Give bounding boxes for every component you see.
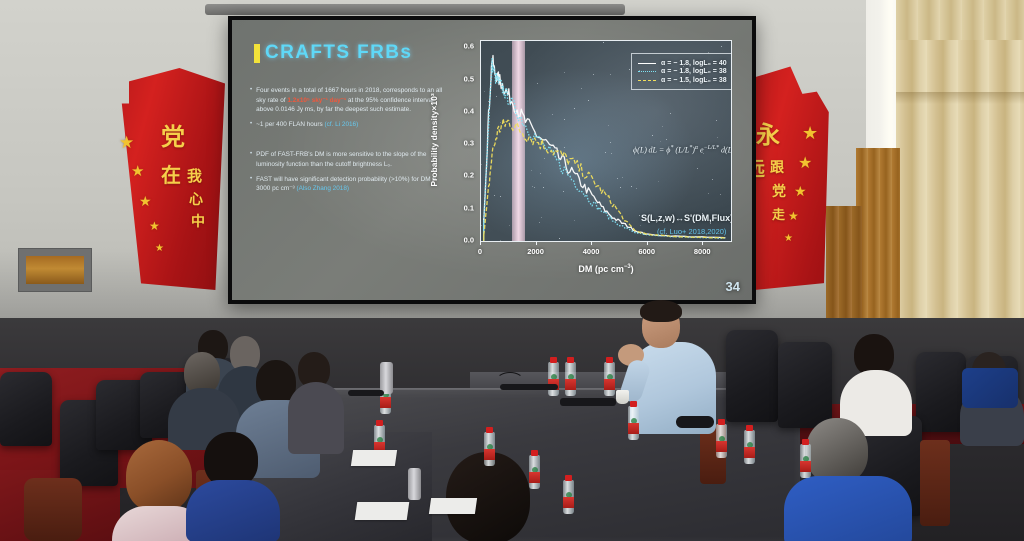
x-tick-label: 6000: [638, 247, 655, 256]
banner-star: ★: [119, 134, 134, 151]
banner-character: 跟: [770, 162, 784, 176]
paper-cup: [616, 390, 629, 404]
legend-item-2: α = − 1.5, logL₀ = 38: [638, 77, 727, 84]
legend-item-0: α = − 1.8, logL₀ = 40: [638, 60, 727, 67]
document-paper: [355, 502, 410, 520]
bullet-text: PDF of FAST-FRB's DM is more sensitive t…: [256, 150, 450, 169]
bullet-segment: (Also Zhang 2018): [296, 185, 349, 192]
slide-number: 34: [726, 279, 740, 294]
bullet-text: Four events in a total of 1667 hours in …: [256, 86, 450, 115]
banner-star: ★: [155, 244, 164, 254]
banner-character: 心: [189, 194, 203, 208]
wall-plaque: [18, 248, 92, 292]
banner-star: ★: [131, 164, 144, 179]
banner-character: 我: [187, 170, 202, 185]
water-bottle: [548, 362, 559, 396]
bullet-spacer: [250, 134, 450, 150]
x-tick-mark: [536, 241, 537, 245]
legend-swatch: [638, 71, 656, 72]
y-tick-label: 0.2: [464, 171, 474, 180]
x-tick-mark: [591, 241, 592, 245]
mapping-text: S(L,z,w)↔S'(DM,Flux): [641, 213, 732, 223]
torso-blue: [186, 480, 280, 541]
bullet-segment: 1.2x10⁵ sky⁻¹ day⁻¹: [287, 97, 346, 104]
legend-swatch: [638, 63, 656, 64]
water-bottle: [484, 432, 495, 466]
dm-probability-chart: Probability density×10³ 0.00.10.20.30.40…: [438, 36, 738, 286]
banner-character: 在: [161, 166, 181, 186]
chair-armrest: [920, 440, 950, 526]
x-tick-label: 4000: [583, 247, 600, 256]
y-tick-label: 0.3: [464, 139, 474, 148]
document-paper: [351, 450, 397, 466]
banner-character: 永: [756, 124, 780, 148]
document-paper: [429, 498, 477, 514]
legend-label: α = − 1.8, logL₀ = 38: [661, 68, 727, 75]
x-tick-label: 8000: [694, 247, 711, 256]
water-bottle: [800, 444, 811, 478]
head-red-hair: [126, 440, 192, 512]
torso-blue-shirt: [784, 476, 912, 541]
chart-y-axis-label: Probability density×10³: [429, 93, 439, 186]
backpack: [962, 368, 1018, 408]
bullet-dot: •: [250, 86, 252, 115]
banner-character: 中: [191, 216, 205, 230]
mapping-citation: (cf. Luo+ 2018,2020): [657, 227, 726, 236]
curtain-fold: [896, 92, 1024, 104]
head-gray-hair: [806, 418, 868, 484]
slide-bullet: •~1 per 400 FLAN hours (cf. Li 2016): [250, 120, 450, 130]
chair-frame: [24, 478, 82, 541]
thermos: [408, 468, 421, 500]
legend-swatch: [638, 80, 656, 81]
torso: [288, 382, 344, 454]
banner-star: ★: [784, 234, 793, 244]
x-tick-mark: [480, 241, 481, 245]
cable: [496, 372, 524, 390]
audience-member: [288, 352, 344, 448]
x-tick-mark: [647, 241, 648, 245]
water-bottle: [529, 455, 540, 489]
bullet-segment: (cf. Li 2016): [325, 121, 359, 128]
audience-member: [840, 334, 912, 430]
speaker-hair: [640, 300, 682, 322]
chair: [916, 352, 966, 432]
y-tick-label: 0.1: [464, 203, 474, 212]
bullet-dot: •: [250, 120, 252, 130]
x-tick-mark: [702, 241, 703, 245]
bullet-text: FAST will have significant detection pro…: [256, 175, 450, 194]
chair: [726, 330, 778, 422]
water-bottle: [744, 430, 755, 464]
microphone: [560, 398, 616, 406]
banner-star: ★: [798, 156, 812, 172]
x-tick-label: 2000: [527, 247, 544, 256]
water-bottle: [716, 424, 727, 458]
banner-character: 党: [161, 126, 185, 150]
bullet-dot: •: [250, 175, 252, 194]
x-tick-label: 0: [478, 247, 482, 256]
legend-label: α = − 1.5, logL₀ = 38: [661, 77, 727, 84]
banner-star: ★: [802, 124, 818, 142]
chair: [778, 342, 832, 428]
chart-x-axis-label: DM (pc cm−3): [578, 264, 633, 274]
slide-bullet: •FAST will have significant detection pr…: [250, 175, 450, 194]
banner-star: ★: [788, 210, 799, 222]
banner-star: ★: [139, 194, 152, 208]
chart-plot-area: α = − 1.8, logL₀ = 40α = − 1.8, logL₀ = …: [480, 40, 732, 242]
wall-banner-right: ★★★★★永远跟党走: [740, 62, 860, 290]
banner-character: 党: [772, 186, 786, 200]
bullet-segment: PDF of FAST-FRB's DM is more sensitive t…: [256, 151, 426, 168]
audience-member-foreground: [186, 432, 280, 541]
audience-member: [168, 352, 242, 444]
y-tick-label: 0.4: [464, 106, 474, 115]
curtain: [896, 0, 1024, 345]
meeting-room-photo: ★★★★★党在我心中 ★★★★★永远跟党走 CRAFTS FRBs •Four …: [0, 0, 1024, 541]
chart-legend: α = − 1.8, logL₀ = 40α = − 1.8, logL₀ = …: [631, 53, 732, 90]
audience-member-foreground: [784, 418, 912, 541]
projector-screen-roller: [205, 4, 625, 15]
water-bottle: [563, 480, 574, 514]
water-bottle: [565, 362, 576, 396]
banner-character: 走: [772, 208, 785, 221]
water-bottle: [628, 406, 639, 440]
slide-title: CRAFTS FRBs: [254, 42, 412, 64]
title-accent-bar: [254, 44, 260, 63]
bullet-segment: ~1 per 400 FLAN hours: [256, 121, 324, 128]
chair: [0, 372, 52, 446]
slide-bullet: •Four events in a total of 1667 hours in…: [250, 86, 450, 115]
luminosity-function-formula: ϕ(L) dL = ϕ* (L/L*)α e−L/L* d(L/L*): [633, 145, 732, 155]
slide-title-text: CRAFTS FRBs: [265, 42, 412, 64]
bullet-text: ~1 per 400 FLAN hours (cf. Li 2016): [256, 120, 450, 130]
bullet-dot: •: [250, 150, 252, 169]
y-tick-label: 0.5: [464, 74, 474, 83]
banner-star: ★: [794, 184, 807, 198]
wall-banner-left: ★★★★★党在我心中: [105, 68, 225, 290]
slide-bullet: •PDF of FAST-FRB's DM is more sensitive …: [250, 150, 450, 169]
slide-bullet-list: •Four events in a total of 1667 hours in…: [250, 86, 450, 199]
water-bottle: [604, 362, 615, 396]
banner-star: ★: [149, 220, 160, 232]
y-tick-label: 0.6: [464, 42, 474, 51]
y-tick-label: 0.0: [464, 236, 474, 245]
curtain-header: [896, 0, 1024, 40]
remote-control: [348, 390, 384, 396]
legend-item-1: α = − 1.8, logL₀ = 38: [638, 68, 727, 75]
legend-label: α = − 1.8, logL₀ = 40: [661, 60, 727, 67]
presentation-slide: CRAFTS FRBs •Four events in a total of 1…: [232, 20, 752, 300]
eyeglasses: [676, 416, 714, 428]
